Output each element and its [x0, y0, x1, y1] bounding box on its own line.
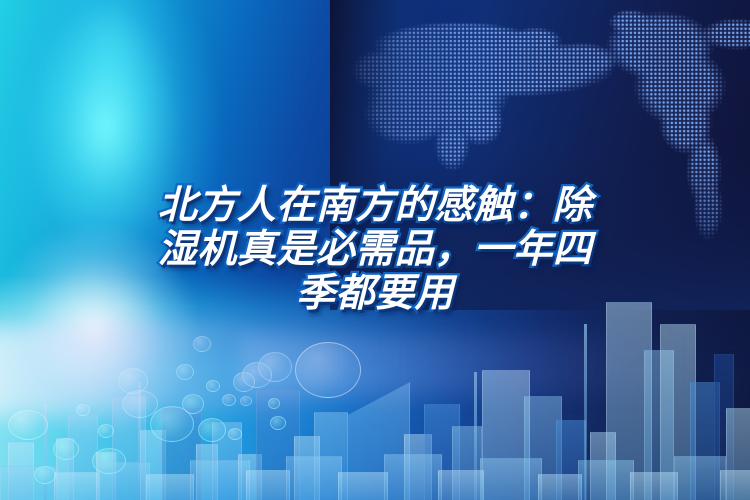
light-haze-band-secondary [240, 336, 750, 394]
promo-banner: 北方人在南方的感触：除 湿机真是必需品，一年四 季都要用 [0, 0, 750, 500]
headline-line-2: 湿机真是必需品，一年四 [108, 227, 642, 272]
headline-line-1: 北方人在南方的感触：除 [108, 183, 642, 228]
headline-title: 北方人在南方的感触：除 湿机真是必需品，一年四 季都要用 [108, 183, 642, 316]
headline-line-3: 季都要用 [108, 271, 642, 316]
